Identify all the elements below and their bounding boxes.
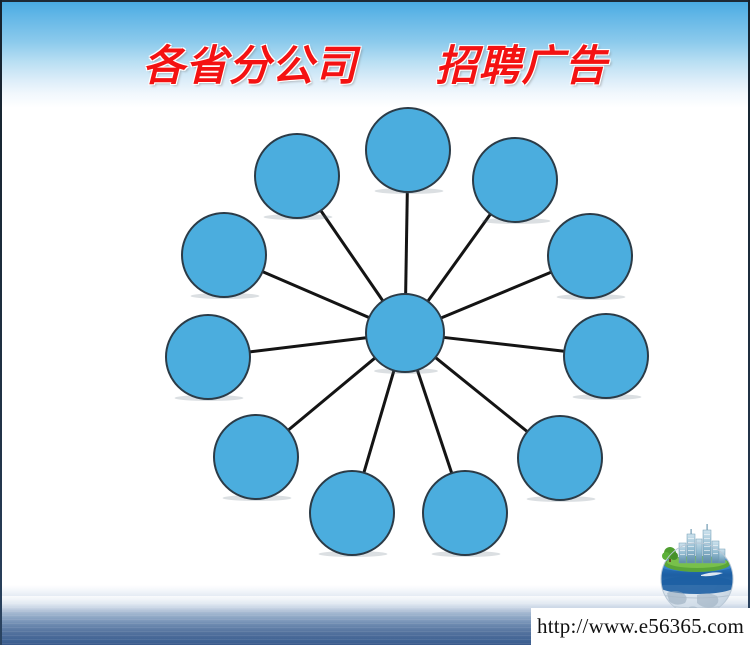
diagram-hub-node-circle[interactable]: [366, 294, 444, 372]
diagram-node-9[interactable]: [166, 315, 250, 401]
spoke-line-1: [406, 191, 408, 295]
diagram-node-4-circle[interactable]: [564, 314, 648, 398]
diagram-node-8-circle[interactable]: [214, 415, 298, 499]
diagram-node-6[interactable]: [423, 471, 507, 557]
spoke-line-8: [288, 357, 376, 430]
spoke-line-10: [262, 271, 370, 318]
diagram-node-9-circle[interactable]: [166, 315, 250, 399]
diagram-node-4[interactable]: [564, 314, 648, 400]
spoke-line-3: [440, 272, 552, 319]
diagram-node-1-circle[interactable]: [366, 108, 450, 192]
diagram-node-6-circle[interactable]: [423, 471, 507, 555]
slide-canvas: 各省分公司 招聘广告: [0, 0, 750, 645]
globe-city-logo: [645, 523, 749, 621]
diagram-hub-node[interactable]: [366, 294, 444, 374]
diagram-node-5[interactable]: [518, 416, 602, 502]
diagram-node-2[interactable]: [473, 138, 557, 224]
diagram-node-5-circle[interactable]: [518, 416, 602, 500]
spoke-line-6: [417, 369, 452, 474]
url-watermark: http://www.e56365.com: [531, 608, 750, 645]
diagram-node-10[interactable]: [182, 213, 266, 299]
nodes-group: [166, 108, 648, 557]
diagram-node-2-circle[interactable]: [473, 138, 557, 222]
spoke-line-2: [427, 213, 491, 302]
diagram-node-3[interactable]: [548, 214, 632, 300]
spoke-line-7: [364, 369, 395, 473]
diagram-node-1[interactable]: [366, 108, 450, 194]
spoke-line-9: [249, 338, 368, 352]
spoke-line-5: [435, 357, 529, 432]
diagram-node-8[interactable]: [214, 415, 298, 501]
hub-and-spoke-diagram: [0, 0, 750, 645]
diagram-node-7-circle[interactable]: [310, 471, 394, 555]
diagram-node-3-circle[interactable]: [548, 214, 632, 298]
spoke-line-4: [443, 337, 566, 351]
spoke-line-11: [320, 210, 383, 302]
diagram-node-7[interactable]: [310, 471, 394, 557]
diagram-node-11[interactable]: [255, 134, 339, 220]
diagram-node-10-circle[interactable]: [182, 213, 266, 297]
diagram-node-11-circle[interactable]: [255, 134, 339, 218]
url-watermark-text: http://www.e56365.com: [537, 614, 744, 639]
